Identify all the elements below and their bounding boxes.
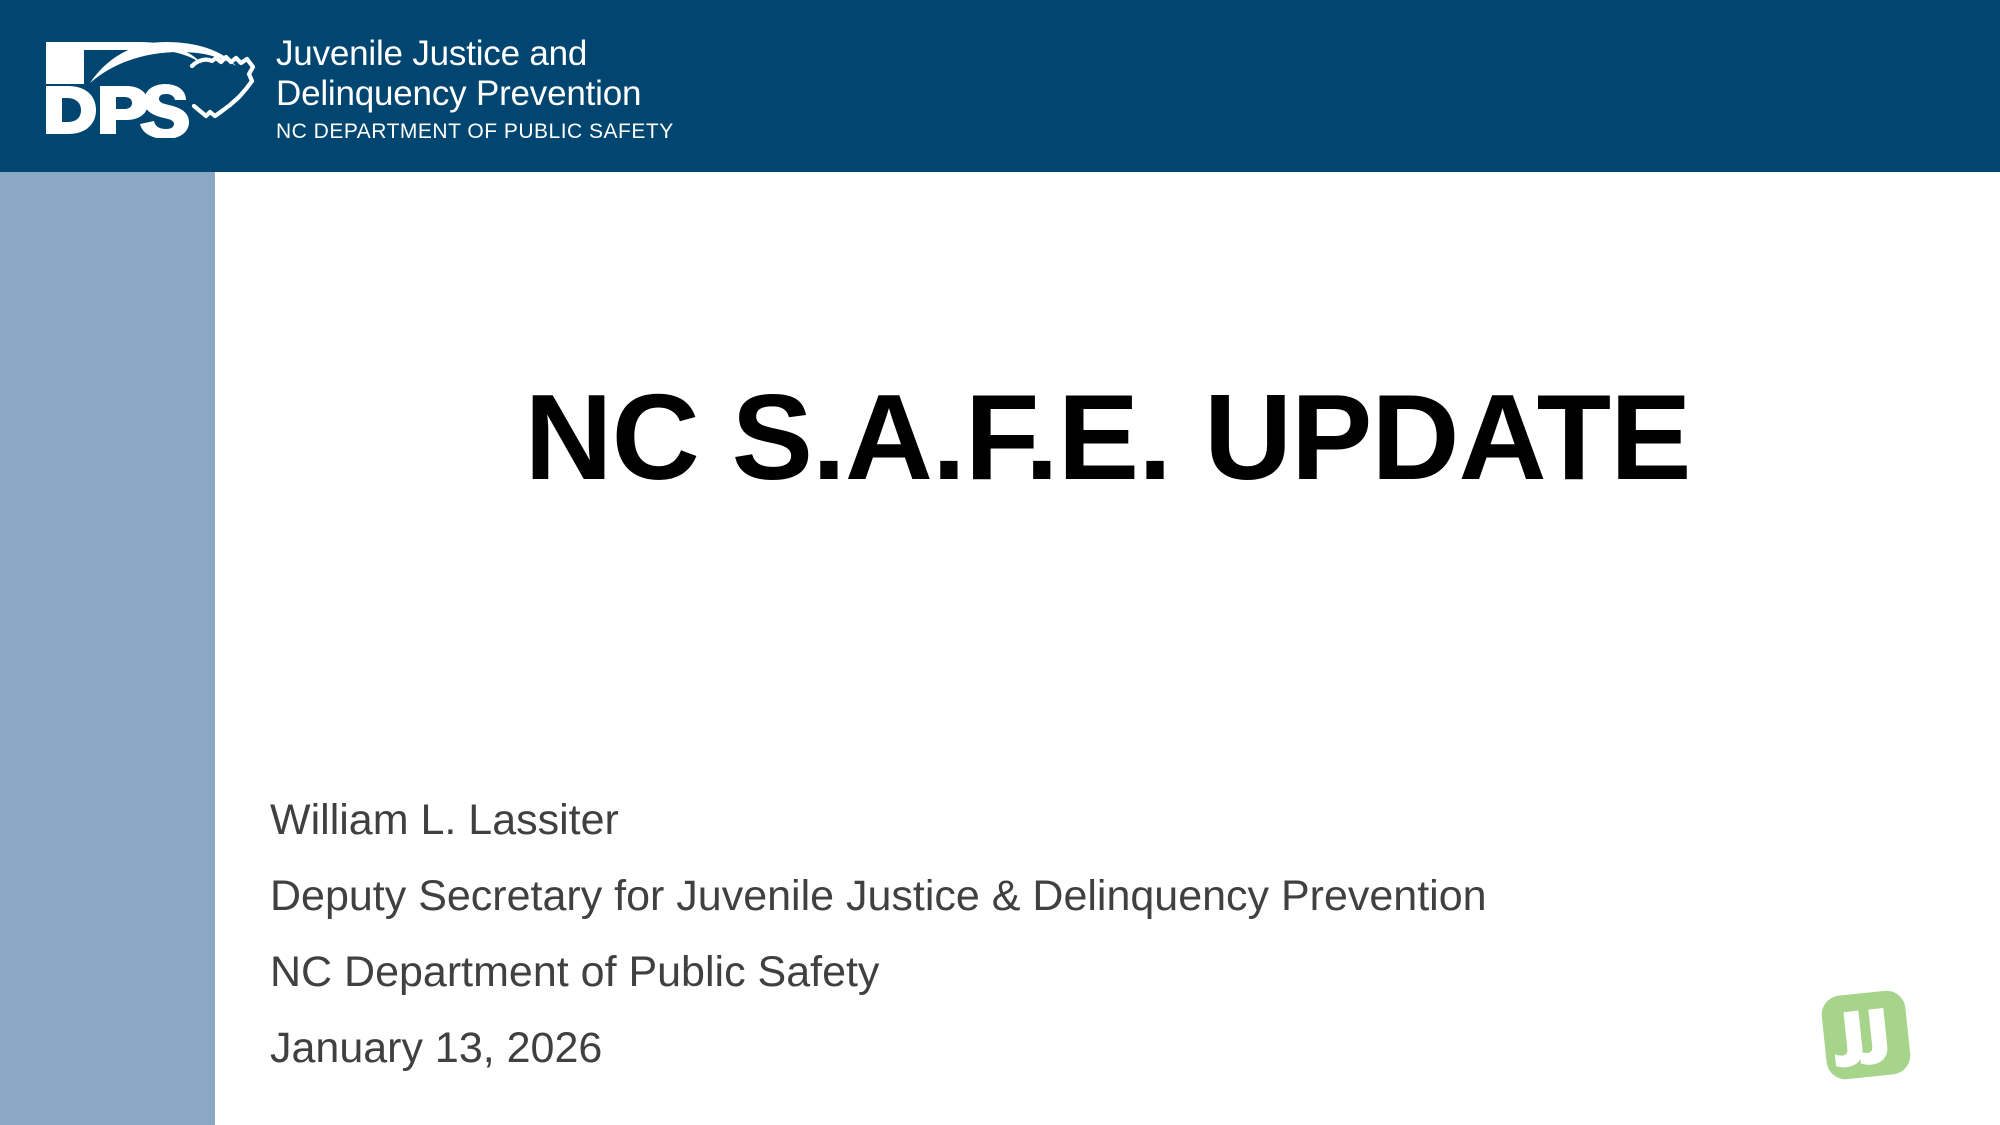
page-title: NC S.A.F.E. UPDATE bbox=[215, 372, 2000, 502]
presenter-name: William L. Lassiter bbox=[270, 782, 1770, 858]
left-accent-bar bbox=[0, 172, 215, 1125]
slide-content: NC S.A.F.E. UPDATE William L. Lassiter D… bbox=[215, 172, 2000, 1125]
jj-logo-icon bbox=[1818, 988, 1914, 1082]
jj-badge bbox=[1818, 988, 1914, 1082]
presentation-slide: Juvenile Justice and Delinquency Prevent… bbox=[0, 0, 2000, 1125]
presenter-info-block: William L. Lassiter Deputy Secretary for… bbox=[270, 782, 1770, 1086]
department-line: NC DEPARTMENT OF PUBLIC SAFETY bbox=[276, 118, 674, 146]
dps-brand-lockup: Juvenile Justice and Delinquency Prevent… bbox=[40, 28, 674, 146]
presenter-organization: NC Department of Public Safety bbox=[270, 934, 1770, 1010]
presenter-title: Deputy Secretary for Juvenile Justice & … bbox=[270, 858, 1770, 934]
presentation-date: January 13, 2026 bbox=[270, 1010, 1770, 1086]
agency-line-2: Delinquency Prevention bbox=[276, 74, 674, 114]
slide-header-band: Juvenile Justice and Delinquency Prevent… bbox=[0, 0, 2000, 172]
agency-name-block: Juvenile Justice and Delinquency Prevent… bbox=[276, 28, 674, 146]
agency-line-1: Juvenile Justice and bbox=[276, 34, 674, 74]
dps-logo-icon bbox=[40, 28, 262, 138]
